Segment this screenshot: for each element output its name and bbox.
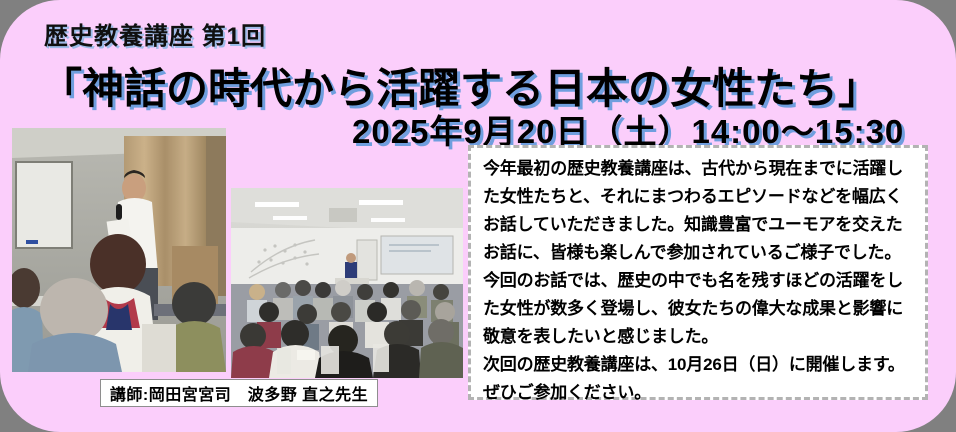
report-panel: 今年最初の歴史教養講座は、古代から現在までに活躍した女性たちと、それにまつわるエ…	[468, 145, 928, 400]
lecturer-photo	[12, 128, 226, 372]
lecturer-caption: 講師:岡田宮宮司 波多野 直之先生	[100, 379, 378, 407]
report-paragraph-3: 次回の歴史教養講座は、10月26日（日）に開催します。	[483, 351, 915, 379]
report-paragraph-1: 今年最初の歴史教養講座は、古代から現在までに活躍した女性たちと、それにまつわるエ…	[483, 155, 915, 267]
lecturer-caption-text: 講師:岡田宮宮司 波多野 直之先生	[110, 381, 368, 405]
report-paragraph-4: ぜひご参加ください。	[483, 379, 915, 407]
poster-card: 歴史教養講座 第1回 「神話の時代から活躍する日本の女性たち」 2025年9月2…	[0, 0, 956, 432]
poster-root: 歴史教養講座 第1回 「神話の時代から活躍する日本の女性たち」 2025年9月2…	[0, 0, 956, 432]
audience-photo-graphic	[231, 188, 463, 378]
audience-photo	[231, 188, 463, 378]
lecturer-photo-graphic	[12, 128, 226, 372]
poster-kicker: 歴史教養講座 第1回	[44, 16, 266, 51]
report-paragraph-2: 今回のお話では、歴史の中でも名を残すほどの活躍をした女性が数多く登場し、彼女たち…	[483, 267, 915, 351]
